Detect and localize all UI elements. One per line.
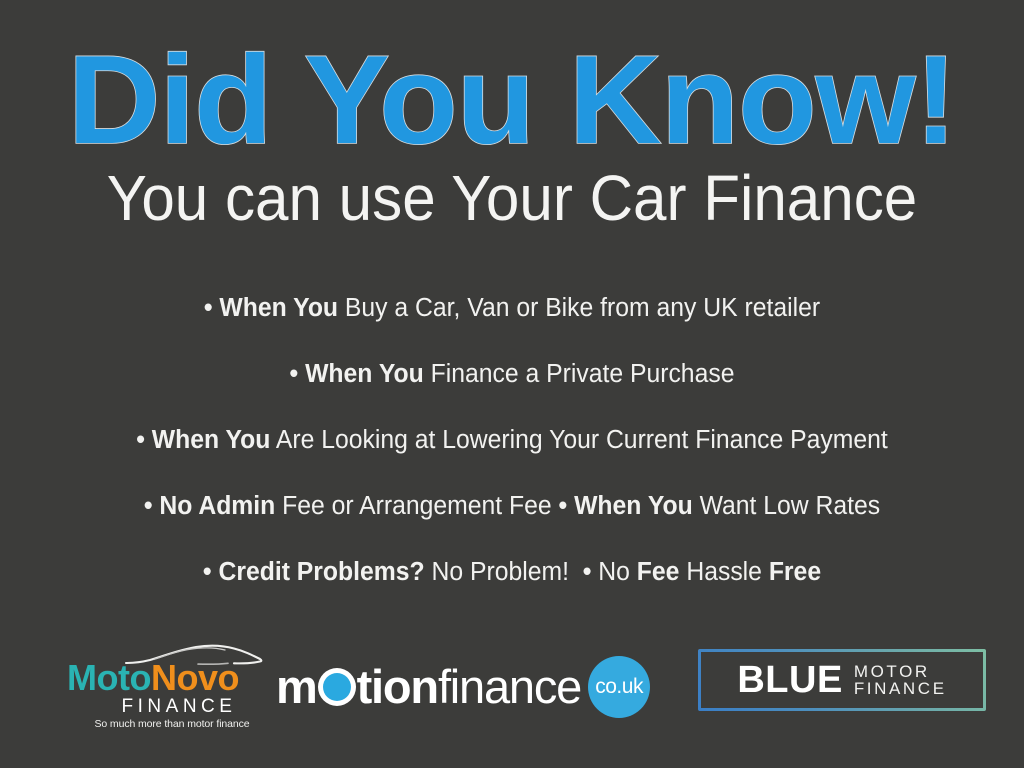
promo-banner: Did You Know! You can use Your Car Finan… — [0, 0, 1024, 768]
blue-circle-o-icon — [318, 668, 356, 706]
bmf-motor-word: MOTOR — [854, 663, 947, 680]
list-item-text: Fee or Arrangement Fee — [282, 492, 551, 520]
list-item-text-secondary: Want Low Rates — [700, 492, 881, 520]
motonovo-moto: Moto — [67, 657, 151, 698]
blue-motor-finance-inner: BLUE MOTOR FINANCE — [701, 652, 983, 708]
list-item-bold-secondary: Fee — [637, 558, 680, 586]
list-item-text: No Problem! — [432, 558, 569, 586]
list-item-text: Buy a Car, Van or Bike from any UK retai… — [345, 294, 820, 322]
benefits-list: • When You Buy a Car, Van or Bike from a… — [0, 275, 1024, 605]
list-item-bold-secondary: When You — [574, 492, 693, 520]
list-item-bold: Credit Problems? — [218, 558, 424, 586]
motonovo-wordmark: MotoNovo — [38, 658, 268, 698]
motonovo-tagline: So much more than motor finance — [38, 718, 268, 730]
list-item-bold: When You — [152, 426, 271, 454]
logo-blue-motor-finance[interactable]: BLUE MOTOR FINANCE — [698, 649, 986, 711]
bullet-dot: • — [290, 360, 299, 388]
logo-motionfinance[interactable]: mtionfinance co.uk — [276, 656, 650, 718]
list-item: • When You Finance a Private Purchase — [15, 341, 1008, 407]
bullet-dot-secondary: • — [559, 492, 568, 520]
list-item-bold-tertiary: Free — [769, 558, 821, 586]
motionfinance-tion: tion — [357, 662, 438, 712]
bullet-dot: • — [144, 492, 153, 520]
motionfinance-wordmark: mtionfinance — [276, 662, 581, 712]
list-item-text: Are Looking at Lowering Your Current Fin… — [276, 426, 888, 454]
bullet-dot: • — [203, 558, 212, 586]
subheadline: You can use Your Car Finance — [31, 166, 994, 230]
list-item-bold: When You — [305, 360, 424, 388]
list-item-text-pre: No — [598, 558, 630, 586]
list-item-text: Finance a Private Purchase — [431, 360, 735, 388]
logo-strip: MotoNovo FINANCE So much more than motor… — [0, 642, 1024, 734]
motionfinance-finance: finance — [438, 662, 581, 712]
list-item: • When You Are Looking at Lowering Your … — [15, 407, 1008, 473]
bullet-dot: • — [136, 426, 145, 454]
list-item: • No Admin Fee or Arrangement Fee • When… — [15, 473, 1008, 539]
bullet-dot: • — [204, 294, 213, 322]
motonovo-novo: Novo — [151, 657, 239, 698]
bmf-blue-word: BLUE — [737, 661, 842, 699]
motionfinance-m: m — [276, 662, 317, 712]
list-item-bold: No Admin — [159, 492, 275, 520]
logo-motonovo-finance[interactable]: MotoNovo FINANCE So much more than motor… — [38, 644, 268, 730]
motonovo-finance-label: FINANCE — [38, 696, 268, 718]
list-item: • When You Buy a Car, Van or Bike from a… — [15, 275, 1008, 341]
list-item: • Credit Problems? No Problem! • No Fee … — [15, 539, 1008, 605]
bullet-dot-secondary: • — [583, 558, 592, 586]
list-item-text-mid: Hassle — [686, 558, 762, 586]
bmf-motor-finance-stack: MOTOR FINANCE — [854, 663, 947, 697]
list-item-bold: When You — [219, 294, 338, 322]
motionfinance-couk-badge: co.uk — [588, 656, 650, 718]
headline-did-you-know: Did You Know! — [0, 34, 1024, 166]
bmf-finance-word: FINANCE — [854, 680, 947, 697]
